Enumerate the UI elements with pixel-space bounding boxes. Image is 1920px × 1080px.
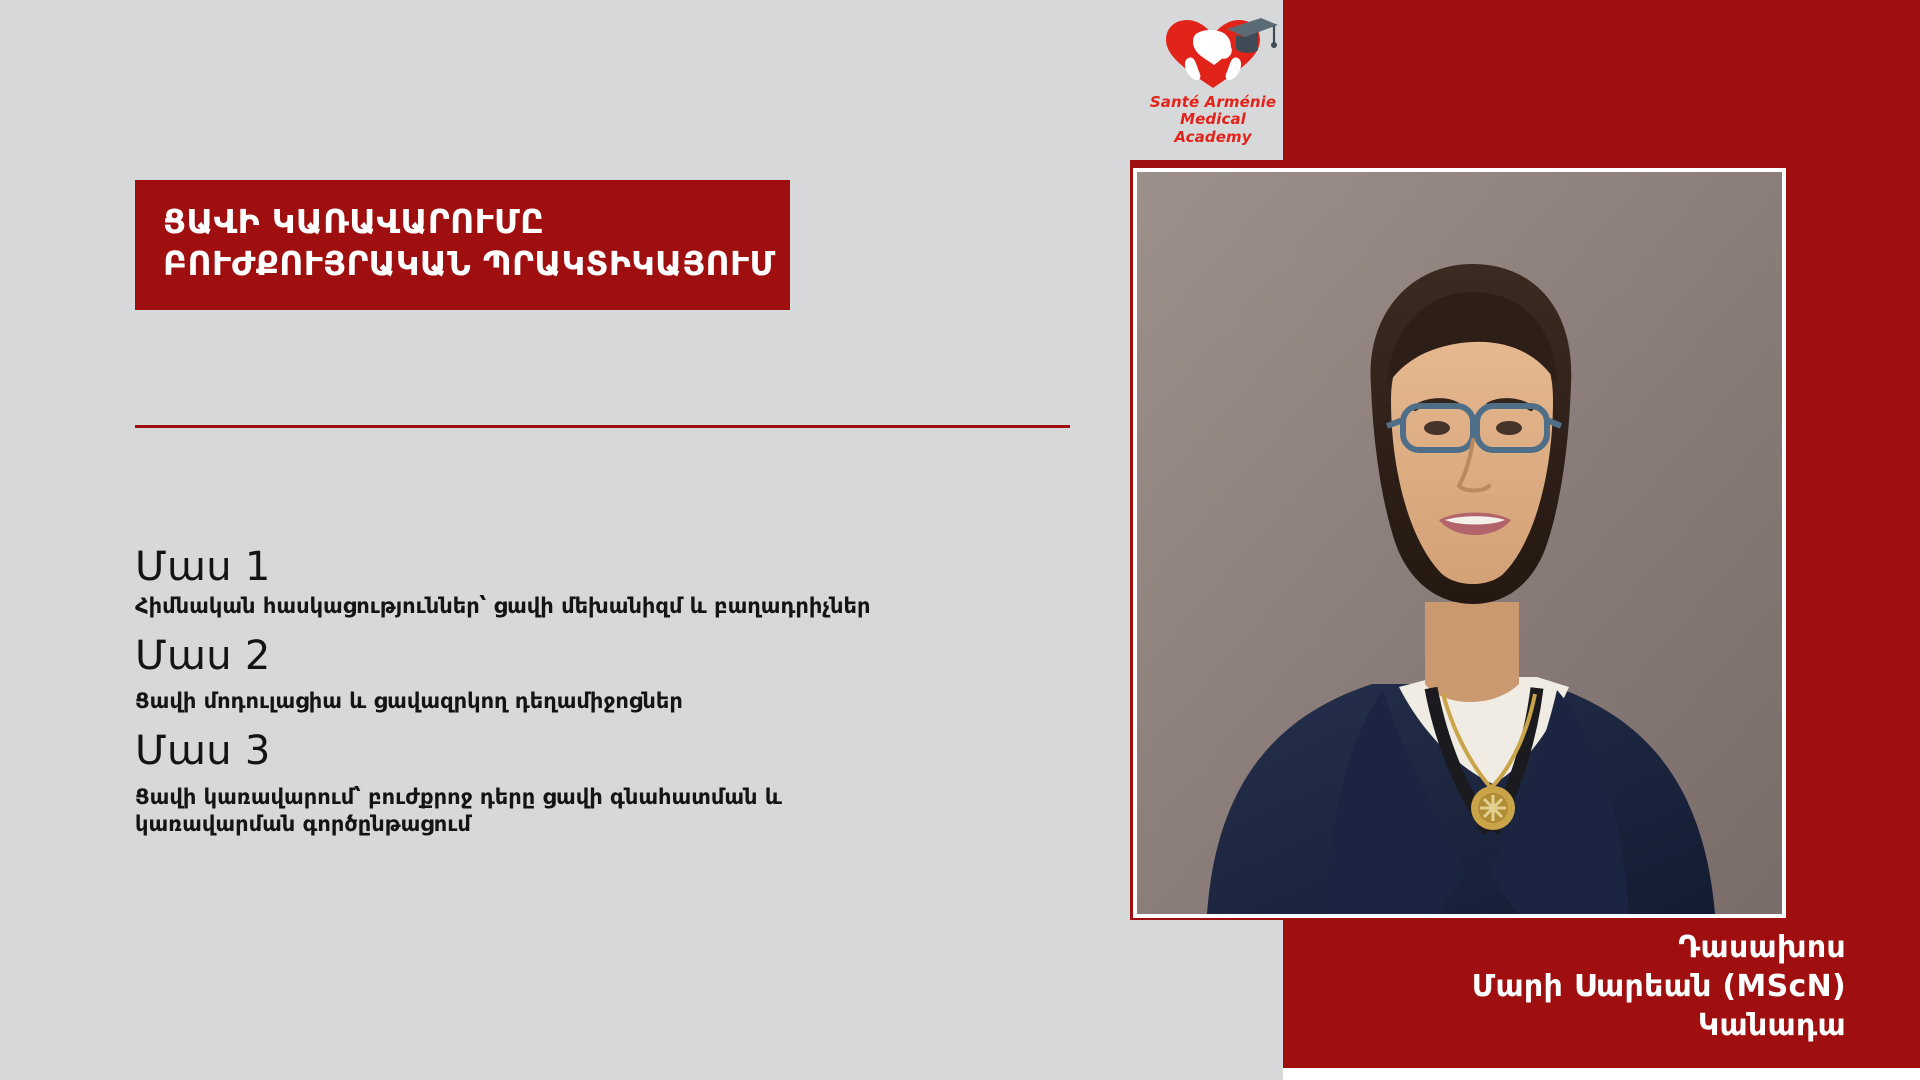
agenda-item: Մաս 2 Ցավի մոդուլացիա և ցավազրկող դեղամի… — [135, 634, 1065, 716]
horizontal-divider — [135, 425, 1070, 428]
speaker-photo-frame — [1133, 168, 1786, 918]
agenda-list: Մաս 1 Հիմնական հասկացություններ՝ ցավի մե… — [135, 545, 1065, 848]
agenda-description: Հիմնական հասկացություններ՝ ցավի մեխանիզմ… — [135, 593, 925, 620]
gray-notch — [1130, 920, 1283, 1080]
agenda-heading: Մաս 2 — [135, 634, 1065, 679]
heart-graduation-cap-hands-armenia-map-icon — [1148, 12, 1278, 92]
speaker-country: Կանադա — [1283, 1006, 1846, 1045]
speaker-photo — [1137, 172, 1782, 914]
slide-title-plate: ՑԱՎԻ ԿԱՌԱՎԱՐՈՒՄԸ ԲՈՒԺՔՈՒՅՐԱԿԱՆ ՊՐԱԿՏԻԿԱՅ… — [135, 180, 790, 310]
agenda-heading: Մաս 3 — [135, 729, 1065, 774]
slide-title-line-2: ԲՈՒԺՔՈՒՅՐԱԿԱՆ ՊՐԱԿՏԻԿԱՅՈՒՄ — [135, 243, 790, 285]
logo-line-1: Santé Arménie — [1148, 94, 1278, 111]
agenda-item: Մաս 3 Ցավի կառավարում՝ բուժքրոջ դերը ցավ… — [135, 729, 1065, 838]
slide-title-line-1: ՑԱՎԻ ԿԱՌԱՎԱՐՈՒՄԸ — [135, 201, 790, 243]
logo-wordmark: Santé Arménie Medical Academy — [1148, 94, 1278, 146]
speaker-credit: Դասախոս Մարի Սարեան (MScN) Կանադա — [1283, 928, 1883, 1045]
speaker-role: Դասախոս — [1283, 928, 1846, 967]
logo-line-2: Medical Academy — [1148, 111, 1278, 146]
presentation-slide: Santé Arménie Medical Academy ՑԱՎԻ ԿԱՌԱՎ… — [0, 0, 1920, 1080]
red-banner-top — [1283, 0, 1920, 160]
agenda-heading: Մաս 1 — [135, 545, 1065, 590]
agenda-description: Ցավի կառավարում՝ բուժքրոջ դերը ցավի գնահ… — [135, 784, 925, 838]
speaker-name: Մարի Սարեան (MScN) — [1283, 967, 1846, 1006]
academy-logo: Santé Arménie Medical Academy — [1148, 12, 1278, 148]
agenda-item: Մաս 1 Հիմնական հասկացություններ՝ ցավի մե… — [135, 545, 1065, 620]
agenda-description: Ցավի մոդուլացիա և ցավազրկող դեղամիջոցներ — [135, 688, 925, 715]
white-footer-strip — [1283, 1068, 1920, 1080]
